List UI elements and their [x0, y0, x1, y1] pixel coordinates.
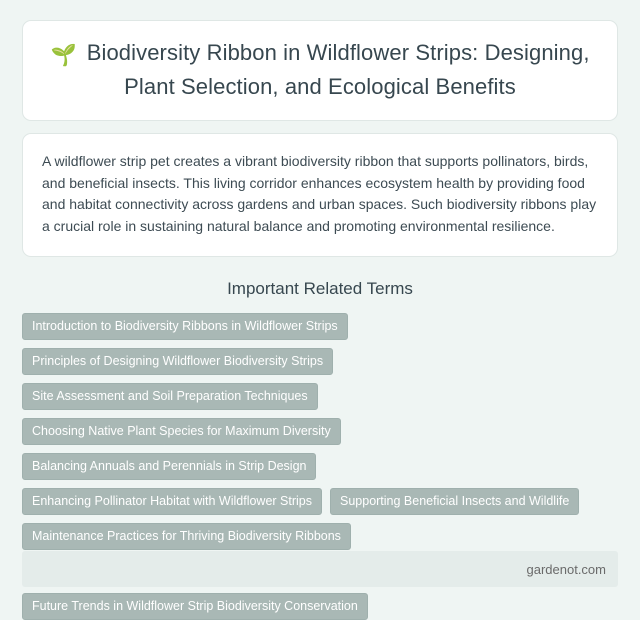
related-term-tag[interactable]: Choosing Native Plant Species for Maximu…	[22, 418, 341, 445]
related-term-tag[interactable]: Introduction to Biodiversity Ribbons in …	[22, 313, 348, 340]
related-term-tag[interactable]: Site Assessment and Soil Preparation Tec…	[22, 383, 318, 410]
related-term-tag[interactable]: Maintenance Practices for Thriving Biodi…	[22, 523, 351, 550]
footer-bar: gardenot.com	[22, 551, 618, 587]
related-term-tag[interactable]: Supporting Beneficial Insects and Wildli…	[330, 488, 579, 515]
related-terms-heading: Important Related Terms	[22, 279, 618, 299]
related-term-tag[interactable]: Balancing Annuals and Perennials in Stri…	[22, 453, 316, 480]
description-card: A wildflower strip pet creates a vibrant…	[22, 133, 618, 257]
page-root: 🌱Biodiversity Ribbon in Wildflower Strip…	[0, 0, 640, 619]
related-term-tag[interactable]: Enhancing Pollinator Habitat with Wildfl…	[22, 488, 322, 515]
page-title: 🌱Biodiversity Ribbon in Wildflower Strip…	[43, 37, 597, 102]
page-title-text: Biodiversity Ribbon in Wildflower Strips…	[87, 40, 590, 99]
description-text: A wildflower strip pet creates a vibrant…	[42, 151, 598, 237]
site-name: gardenot.com	[527, 562, 607, 577]
related-term-tag[interactable]: Principles of Designing Wildflower Biodi…	[22, 348, 333, 375]
title-card: 🌱Biodiversity Ribbon in Wildflower Strip…	[22, 20, 618, 121]
seedling-icon: 🌱	[50, 44, 76, 67]
related-term-tag[interactable]: Future Trends in Wildflower Strip Biodiv…	[22, 593, 368, 620]
